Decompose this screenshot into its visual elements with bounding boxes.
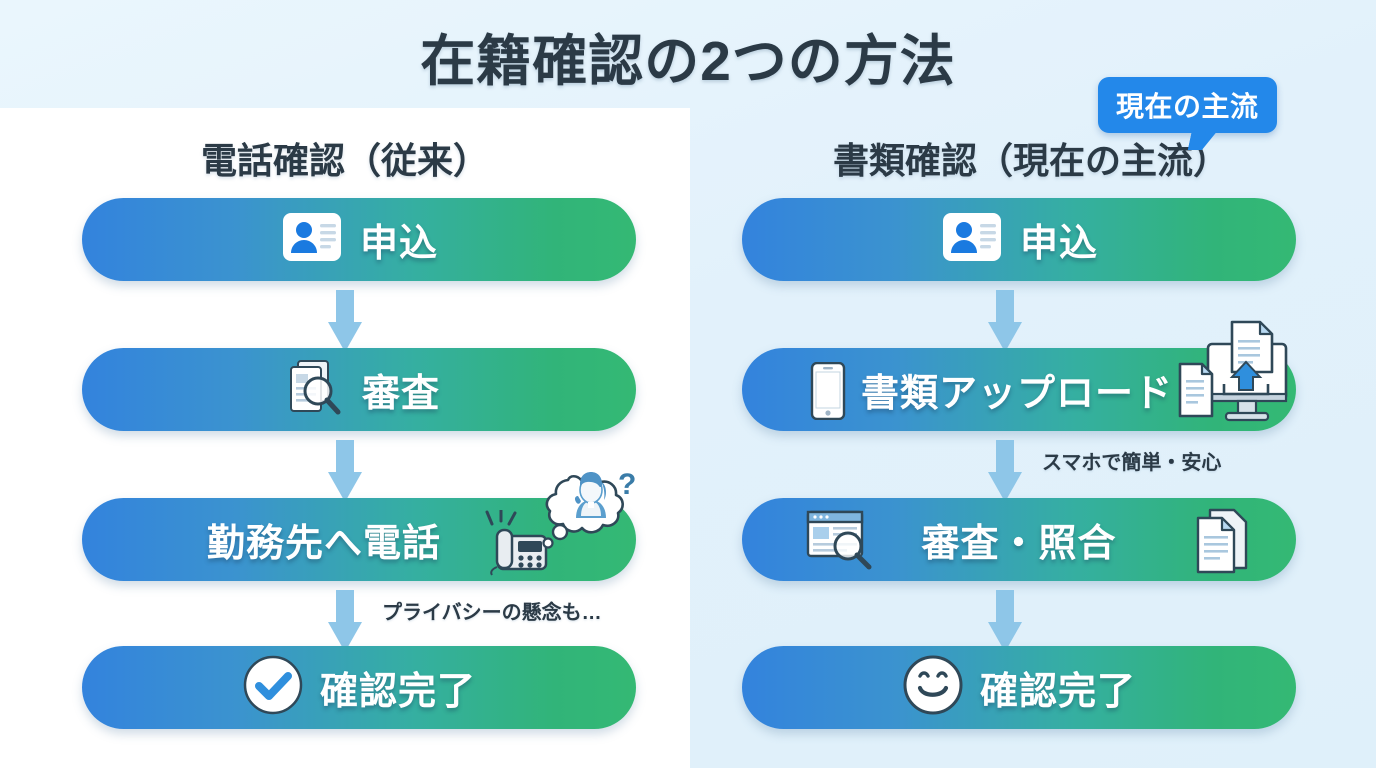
note-easy-and-safe: スマホで簡単・安心	[1042, 446, 1221, 475]
column-document-confirmation: 書類確認（現在の主流） 申込 書類アップロード	[686, 108, 1376, 768]
step-pill-phone-1[interactable]: 申込	[82, 198, 636, 281]
step-label-phone-4: 確認完了	[320, 660, 476, 715]
smartphone-icon	[806, 362, 850, 425]
arrow-phone-1-2	[328, 290, 362, 352]
step-pill-doc-4[interactable]: 確認完了	[742, 646, 1296, 729]
note-privacy-concern: プライバシーの懸念も…	[382, 596, 602, 625]
smiley-face-icon	[902, 654, 964, 721]
status-badge-current-mainstream: 現在の主流	[1098, 77, 1277, 133]
arrow-doc-2-3	[988, 440, 1022, 502]
monitor-upload-icon	[1174, 318, 1294, 433]
step-pill-doc-3[interactable]: 審査・照合	[742, 498, 1296, 581]
badge-tail	[1188, 130, 1218, 150]
step-pill-doc-2[interactable]: 書類アップロード	[742, 348, 1296, 431]
arrow-phone-3-4	[328, 590, 362, 652]
column-heading-document: 書類確認（現在の主流）	[686, 132, 1376, 184]
step-label-doc-4: 確認完了	[980, 660, 1136, 715]
arrow-phone-2-3	[328, 440, 362, 502]
arrow-doc-1-2	[988, 290, 1022, 352]
check-circle-icon	[242, 654, 304, 721]
step-label-phone-3: 勤務先へ電話	[207, 512, 441, 567]
svg-text:?: ?	[618, 468, 636, 501]
webpage-magnifier-icon	[804, 508, 880, 577]
step-label-doc-1: 申込	[1020, 212, 1098, 267]
id-card-icon	[940, 205, 1004, 274]
document-magnifier-icon	[278, 353, 346, 426]
status-badge-label: 現在の主流	[1116, 85, 1259, 125]
step-label-phone-2: 審査	[362, 362, 440, 417]
arrow-doc-3-4	[988, 590, 1022, 652]
step-label-doc-3: 審査・照合	[921, 512, 1116, 567]
step-pill-phone-3[interactable]: 勤務先へ電話	[82, 498, 636, 581]
step-pill-doc-1[interactable]: 申込	[742, 198, 1296, 281]
column-heading-phone: 電話確認（従来）	[0, 132, 690, 184]
thought-bubble-person-question-icon: ?	[538, 446, 648, 559]
step-label-phone-1: 申込	[360, 212, 438, 267]
documents-icon	[1194, 508, 1256, 579]
id-card-icon	[280, 205, 344, 274]
step-pill-phone-2[interactable]: 審査	[82, 348, 636, 431]
step-pill-phone-4[interactable]: 確認完了	[82, 646, 636, 729]
step-label-doc-2: 書類アップロード	[861, 362, 1173, 417]
column-phone-confirmation: 電話確認（従来） 申込	[0, 108, 690, 768]
